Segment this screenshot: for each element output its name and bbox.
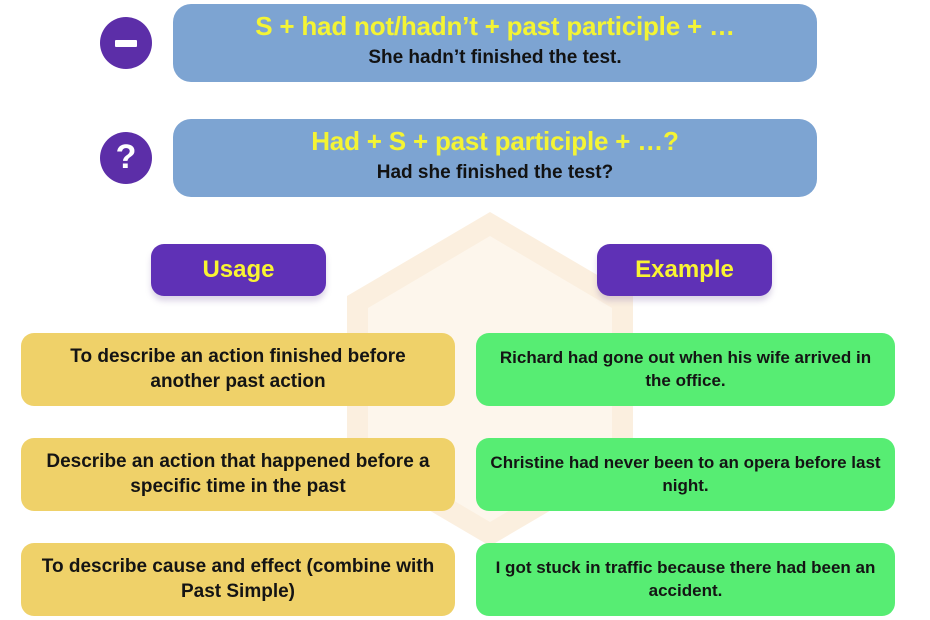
formula-structure-text: Had + S + past participle + …? (311, 127, 679, 157)
formula-row-question: ? Had + S + past participle + …? Had she… (100, 119, 817, 197)
usage-example-table: To describe an action finished before an… (0, 333, 930, 620)
formula-example-text: Had she finished the test? (377, 162, 613, 185)
formula-box-question: Had + S + past participle + …? Had she f… (173, 119, 817, 197)
table-row: Describe an action that happened before … (0, 438, 930, 511)
example-cell: Christine had never been to an opera bef… (476, 438, 895, 511)
example-cell: Richard had gone out when his wife arriv… (476, 333, 895, 406)
formula-structure-text: S + had not/hadn’t + past participle + … (255, 12, 735, 42)
usage-cell: To describe cause and effect (combine wi… (21, 543, 455, 616)
minus-bar-icon (115, 40, 137, 47)
formula-row-negative: S + had not/hadn’t + past participle + …… (100, 4, 817, 82)
usage-cell: Describe an action that happened before … (21, 438, 455, 511)
minus-circle-icon (100, 17, 152, 69)
table-row: To describe cause and effect (combine wi… (0, 543, 930, 616)
table-row: To describe an action finished before an… (0, 333, 930, 406)
question-circle-icon: ? (100, 132, 152, 184)
question-mark-glyph: ? (116, 140, 137, 174)
usage-cell: To describe an action finished before an… (21, 333, 455, 406)
column-header-example: Example (597, 244, 772, 296)
formula-example-text: She hadn’t finished the test. (368, 47, 621, 70)
column-header-usage: Usage (151, 244, 326, 296)
infographic-page: S + had not/hadn’t + past participle + …… (0, 0, 930, 620)
formula-box-negative: S + had not/hadn’t + past participle + …… (173, 4, 817, 82)
example-cell: I got stuck in traffic because there had… (476, 543, 895, 616)
